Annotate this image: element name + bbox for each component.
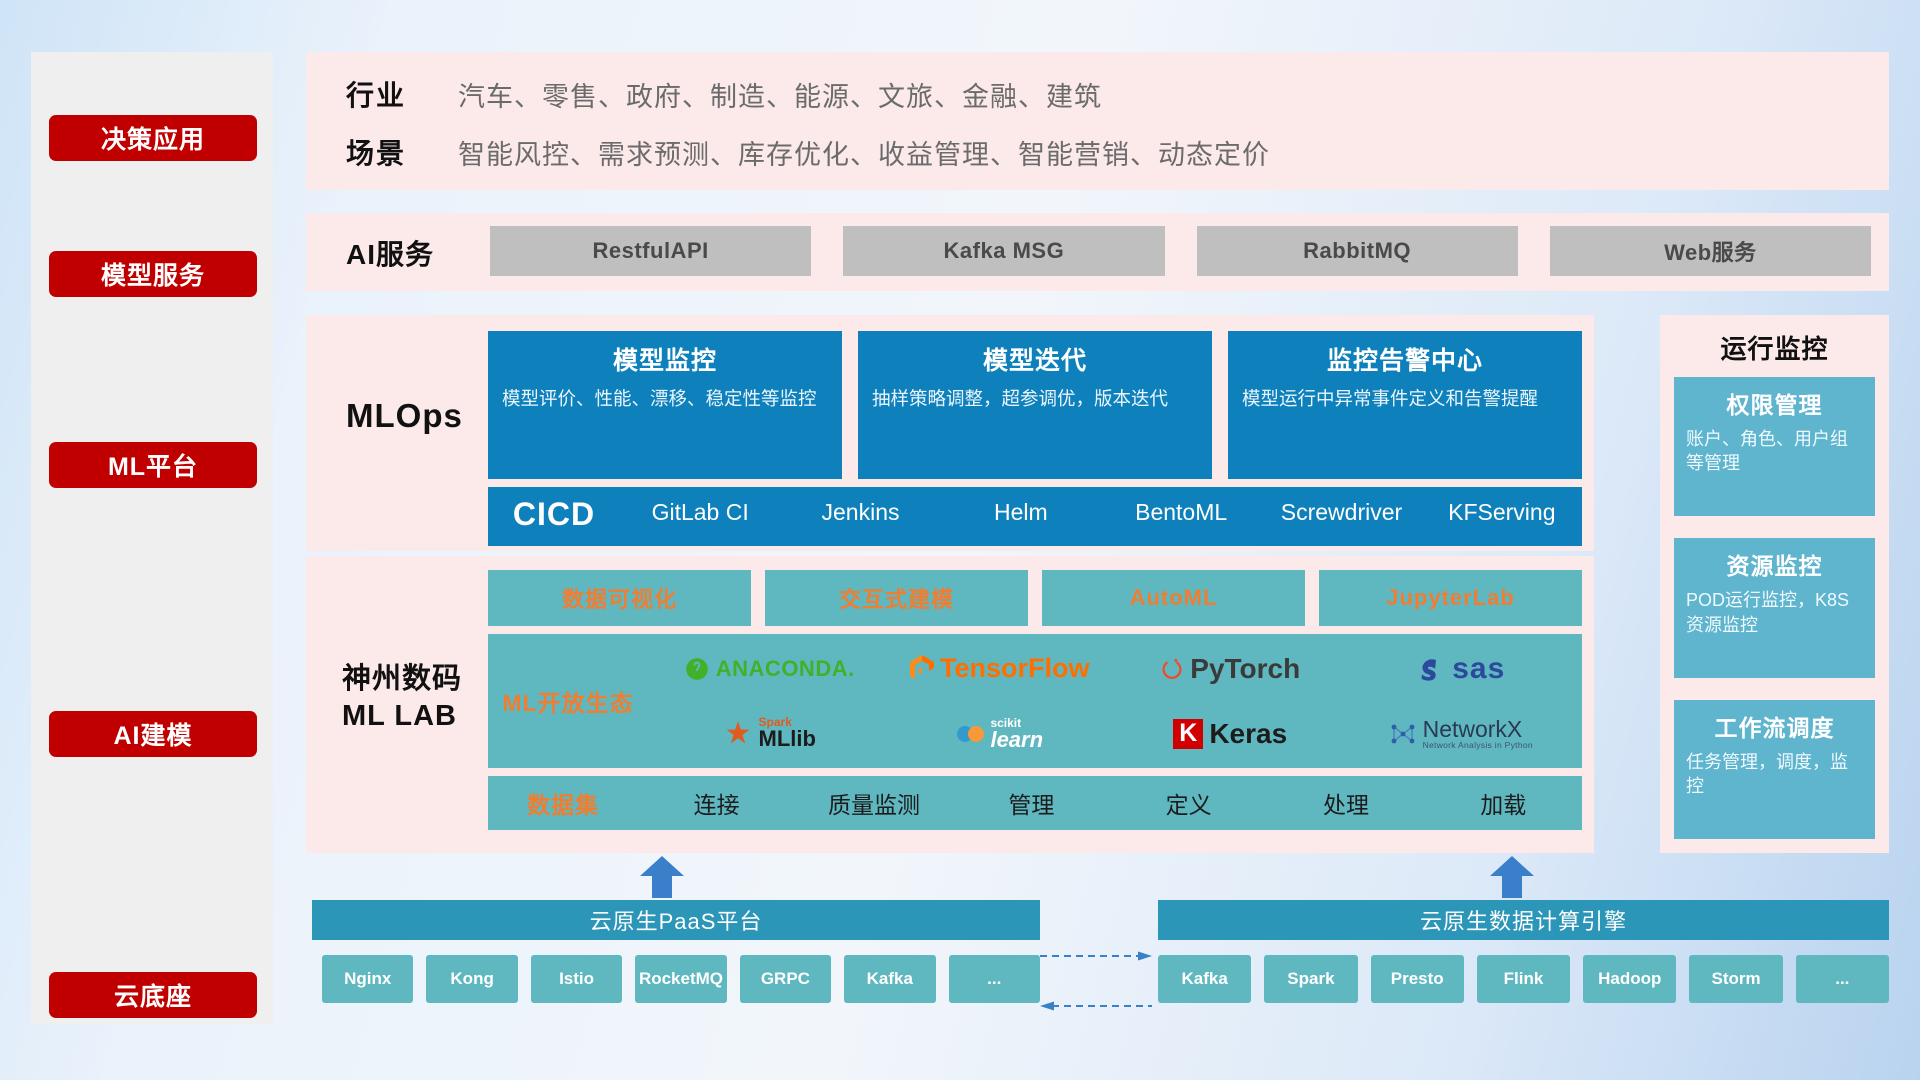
cloud-chip-grpc[interactable]: GRPC	[740, 955, 831, 1003]
industry-row: 行业 汽车、零售、政府、制造、能源、文旅、金融、建筑	[346, 74, 1102, 114]
tensorflow-logo: TensorFlow	[910, 653, 1090, 684]
cicd-item-list: GitLab CI Jenkins Helm BentoML Screwdriv…	[620, 496, 1582, 526]
ml-open-ecosystem: ML开放生态 ANACONDA. TensorFlow	[488, 634, 1582, 768]
monitoring-card-workflow[interactable]: 工作流调度 任务管理，调度，监控	[1674, 700, 1875, 839]
rail-item-decision-apps[interactable]: 决策应用	[49, 115, 257, 161]
mlops-card-list: 模型监控 模型评价、性能、漂移、稳定性等监控 模型迭代 抽样策略调整，超参调优，…	[488, 331, 1582, 479]
scenario-values: 智能风控、需求预测、库存优化、收益管理、智能营销、动态定价	[458, 133, 1270, 172]
card-desc: 模型运行中异常事件定义和告警提醒	[1242, 386, 1568, 412]
ml-lab-label-line2: ML LAB	[342, 698, 462, 735]
cloud-chip-flink[interactable]: Flink	[1477, 955, 1570, 1003]
runtime-monitoring-card-list: 权限管理 账户、角色、用户组等管理 资源监控 POD运行监控，K8S资源监控 工…	[1674, 377, 1875, 839]
mlops-card-alert-center[interactable]: 监控告警中心 模型运行中异常事件定义和告警提醒	[1228, 331, 1582, 479]
pytorch-logo-text: PyTorch	[1190, 653, 1300, 685]
monitoring-card-resource[interactable]: 资源监控 POD运行监控，K8S资源监控	[1674, 538, 1875, 677]
ai-service-label: AI服务	[346, 233, 434, 273]
rail-item-ai-modeling[interactable]: AI建模	[49, 711, 257, 757]
anaconda-logo-text: ANACONDA.	[716, 656, 855, 682]
tool-jupyterlab[interactable]: JupyterLab	[1319, 570, 1582, 626]
cloud-paas-chip-list: Nginx Kong Istio RocketMQ GRPC Kafka ...	[322, 955, 1040, 1003]
rail-item-ml-platform[interactable]: ML平台	[49, 442, 257, 488]
ecosystem-label: ML开放生态	[488, 684, 648, 718]
cicd-item-jenkins[interactable]: Jenkins	[780, 496, 940, 526]
cloud-chip-kong[interactable]: Kong	[426, 955, 517, 1003]
card-title: 模型迭代	[872, 341, 1198, 377]
monitoring-card-permission[interactable]: 权限管理 账户、角色、用户组等管理	[1674, 377, 1875, 516]
industry-key: 行业	[346, 74, 458, 114]
mlops-band: MLOps 模型监控 模型评价、性能、漂移、稳定性等监控 模型迭代 抽样策略调整…	[306, 315, 1594, 551]
dataset-item-list: 连接 质量监测 管理 定义 处理 加载	[638, 786, 1582, 820]
cloud-chip-presto[interactable]: Presto	[1371, 955, 1464, 1003]
ml-lab-label-line1: 神州数码	[342, 661, 462, 698]
networkx-logo-text: NetworkX	[1423, 717, 1533, 741]
cloud-chip-more[interactable]: ...	[949, 955, 1040, 1003]
cicd-label: CICD	[488, 496, 620, 533]
keras-logo: K Keras	[1173, 718, 1287, 750]
ai-service-chip-restfulapi[interactable]: RestfulAPI	[490, 226, 811, 276]
cloud-chip-kafka[interactable]: Kafka	[1158, 955, 1251, 1003]
ai-service-chip-web-service[interactable]: Web服务	[1550, 226, 1871, 276]
card-title: 监控告警中心	[1242, 341, 1568, 377]
cicd-item-helm[interactable]: Helm	[941, 496, 1101, 526]
cicd-bar: CICD GitLab CI Jenkins Helm BentoML Scre…	[488, 487, 1582, 546]
cloud-chip-storm[interactable]: Storm	[1689, 955, 1782, 1003]
runtime-monitoring-column: 运行监控 权限管理 账户、角色、用户组等管理 资源监控 POD运行监控，K8S资…	[1660, 315, 1889, 853]
industry-values: 汽车、零售、政府、制造、能源、文旅、金融、建筑	[458, 75, 1102, 114]
card-desc: 抽样策略调整，超参调优，版本迭代	[872, 386, 1198, 412]
dashed-arrow-right-icon	[1040, 950, 1152, 962]
ecosystem-logo-grid: ANACONDA. TensorFlow PyTorch	[648, 634, 1582, 768]
cloud-paas-header: 云原生PaaS平台	[312, 900, 1040, 940]
dataset-item-define[interactable]: 定义	[1110, 786, 1267, 820]
ai-service-chip-kafka-msg[interactable]: Kafka MSG	[843, 226, 1164, 276]
scikit-learn-logo-text: learn	[990, 729, 1043, 751]
card-title: 工作流调度	[1686, 709, 1863, 743]
dataset-item-quality-monitor[interactable]: 质量监测	[795, 786, 952, 820]
tool-interactive-modeling[interactable]: 交互式建模	[765, 570, 1028, 626]
mlops-card-model-iteration[interactable]: 模型迭代 抽样策略调整，超参调优，版本迭代	[858, 331, 1212, 479]
tool-data-visualization[interactable]: 数据可视化	[488, 570, 751, 626]
dashed-arrow-left-icon	[1040, 1000, 1152, 1012]
dataset-item-load[interactable]: 加载	[1425, 786, 1582, 820]
rail-item-model-service[interactable]: 模型服务	[49, 251, 257, 297]
ml-lab-label: 神州数码 ML LAB	[342, 661, 462, 735]
cloud-data-engine-chip-list: Kafka Spark Presto Flink Hadoop Storm ..…	[1158, 955, 1889, 1003]
cloud-chip-istio[interactable]: Istio	[531, 955, 622, 1003]
keras-logo-mark: K	[1173, 719, 1203, 749]
ai-service-band: AI服务 RestfulAPI Kafka MSG RabbitMQ Web服务	[306, 213, 1889, 291]
up-arrow-icon-left	[640, 856, 684, 898]
cloud-chip-nginx[interactable]: Nginx	[322, 955, 413, 1003]
networkx-logo-sub: Network Analysis in Python	[1423, 741, 1533, 750]
scikit-learn-logo: scikit learn	[956, 717, 1043, 751]
dataset-item-connect[interactable]: 连接	[638, 786, 795, 820]
tool-automl[interactable]: AutoML	[1042, 570, 1305, 626]
card-desc: POD运行监控，K8S资源监控	[1686, 588, 1863, 637]
anaconda-logo: ANACONDA.	[684, 656, 855, 682]
card-desc: 模型评价、性能、漂移、稳定性等监控	[502, 386, 828, 412]
pytorch-logo: PyTorch	[1160, 653, 1300, 685]
ml-lab-tool-list: 数据可视化 交互式建模 AutoML JupyterLab	[488, 570, 1582, 626]
ai-service-chip-list: RestfulAPI Kafka MSG RabbitMQ Web服务	[490, 226, 1871, 276]
cloud-chip-rocketmq[interactable]: RocketMQ	[635, 955, 726, 1003]
card-desc: 账户、角色、用户组等管理	[1686, 427, 1863, 476]
cicd-item-bentoml[interactable]: BentoML	[1101, 496, 1261, 526]
mllib-logo-text: MLlib	[759, 729, 816, 750]
networkx-logo: NetworkX Network Analysis in Python	[1389, 717, 1533, 750]
dataset-item-manage[interactable]: 管理	[953, 786, 1110, 820]
card-desc: 任务管理，调度，监控	[1686, 750, 1863, 799]
scenario-key: 场景	[346, 132, 458, 172]
cloud-chip-hadoop[interactable]: Hadoop	[1583, 955, 1676, 1003]
mlops-label: MLOps	[346, 397, 463, 435]
ai-service-chip-rabbitmq[interactable]: RabbitMQ	[1197, 226, 1518, 276]
cicd-item-gitlab-ci[interactable]: GitLab CI	[620, 496, 780, 526]
cicd-item-kfserving[interactable]: KFServing	[1422, 496, 1582, 526]
ml-lab-band: 神州数码 ML LAB 数据可视化 交互式建模 AutoML JupyterLa…	[306, 556, 1594, 853]
spark-mllib-logo: Spark MLlib	[723, 717, 816, 749]
cicd-item-screwdriver[interactable]: Screwdriver	[1261, 496, 1421, 526]
architecture-diagram: 决策应用 模型服务 ML平台 AI建模 云底座 行业 汽车、零售、政府、制造、能…	[0, 0, 1920, 1080]
rail-item-cloud-base[interactable]: 云底座	[49, 972, 257, 1018]
dataset-bar: 数据集 连接 质量监测 管理 定义 处理 加载	[488, 776, 1582, 830]
card-title: 权限管理	[1686, 386, 1863, 420]
card-title: 模型监控	[502, 341, 828, 377]
layer-label-rail: 决策应用 模型服务 ML平台 AI建模 云底座	[31, 52, 273, 1024]
sas-logo-text: sas	[1452, 652, 1505, 686]
cloud-data-engine-header: 云原生数据计算引擎	[1158, 900, 1889, 940]
mlops-card-model-monitoring[interactable]: 模型监控 模型评价、性能、漂移、稳定性等监控	[488, 331, 842, 479]
cloud-chip-more[interactable]: ...	[1796, 955, 1889, 1003]
up-arrow-icon-right	[1490, 856, 1534, 898]
runtime-monitoring-title: 运行监控	[1660, 329, 1889, 366]
keras-logo-text: Keras	[1209, 718, 1287, 750]
dataset-item-process[interactable]: 处理	[1267, 786, 1424, 820]
sas-logo: sas	[1416, 652, 1505, 686]
decision-applications-band: 行业 汽车、零售、政府、制造、能源、文旅、金融、建筑 场景 智能风控、需求预测、…	[306, 52, 1889, 190]
dataset-label: 数据集	[488, 786, 638, 820]
card-title: 资源监控	[1686, 547, 1863, 581]
scenario-row: 场景 智能风控、需求预测、库存优化、收益管理、智能营销、动态定价	[346, 132, 1270, 172]
cloud-chip-kafka[interactable]: Kafka	[844, 955, 935, 1003]
cloud-chip-spark[interactable]: Spark	[1264, 955, 1357, 1003]
tensorflow-logo-text: TensorFlow	[940, 653, 1090, 684]
